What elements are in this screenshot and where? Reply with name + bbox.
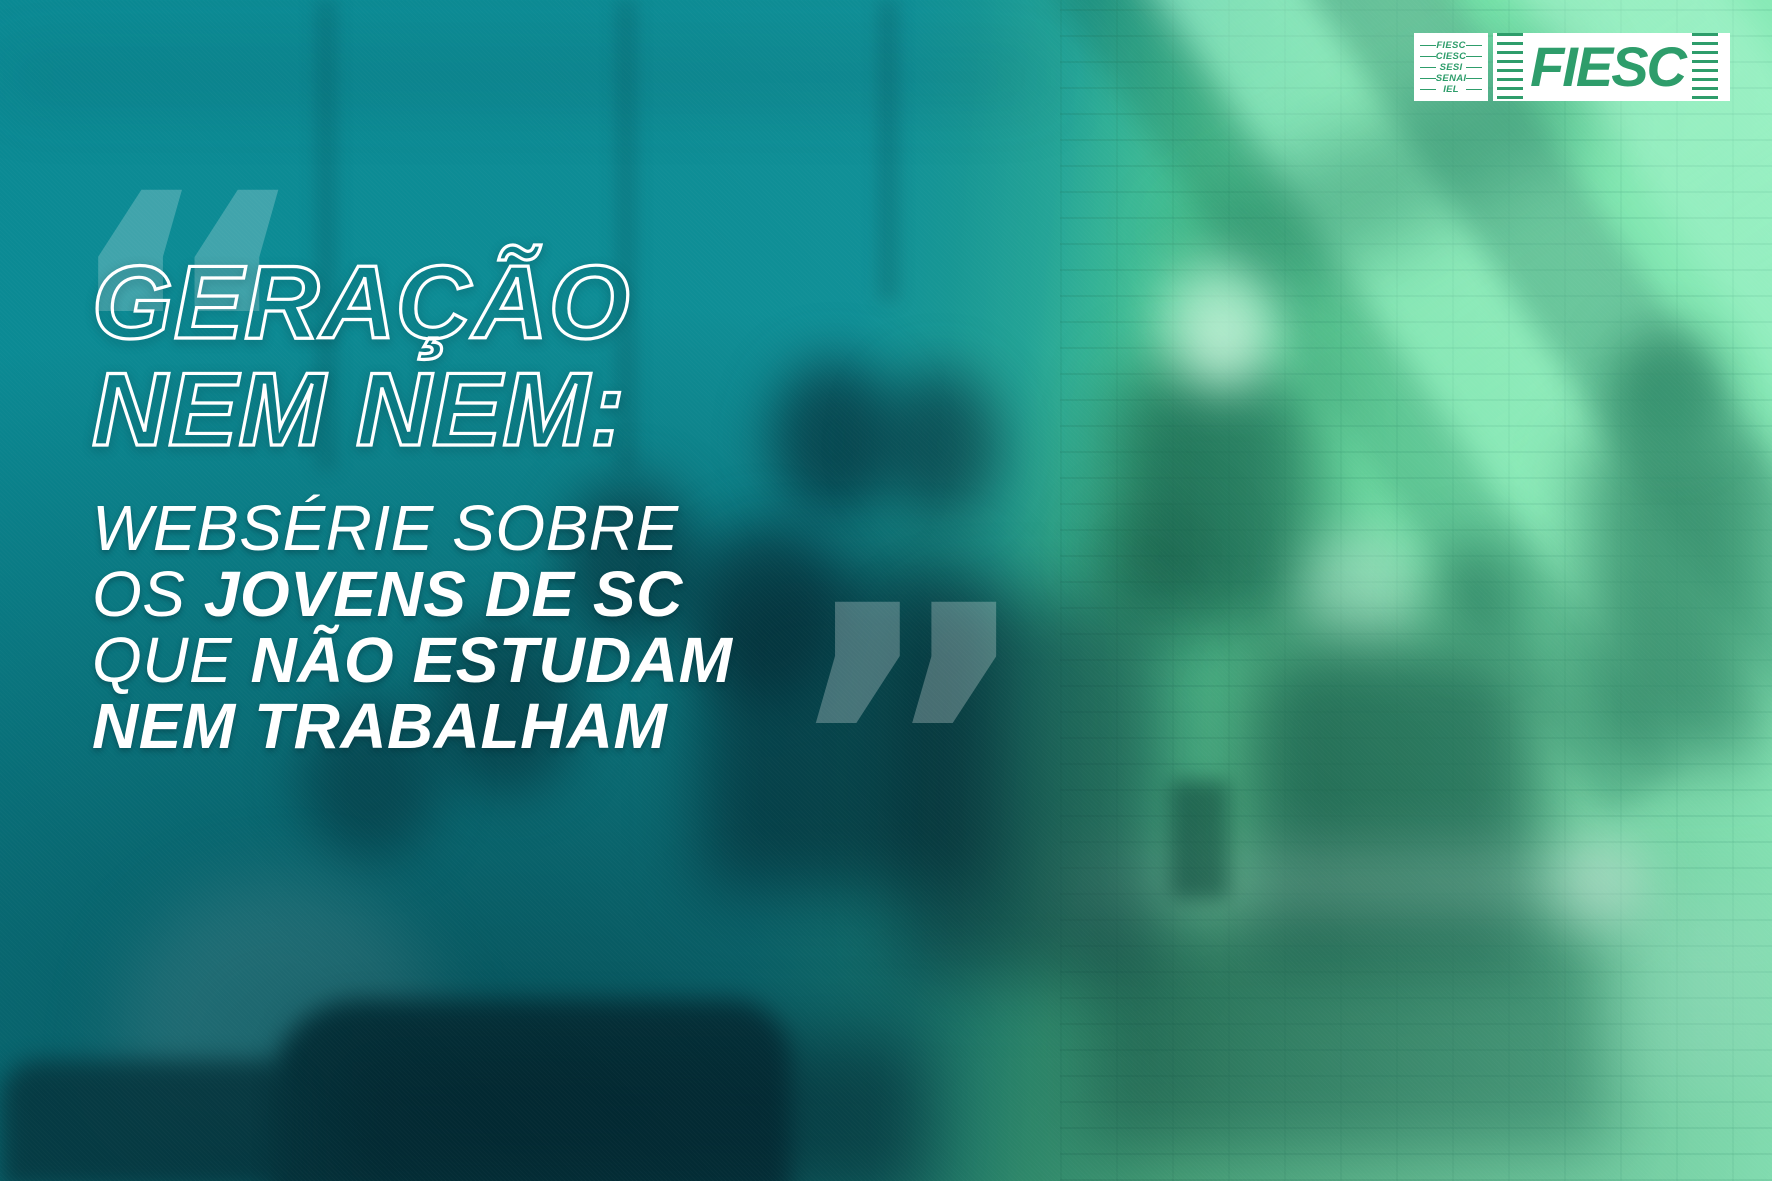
fiesc-logo-entities-mark: FIESC CIESC SESI SENAI IEL xyxy=(1414,33,1488,101)
headline-block: GERAÇÃO NEM NEM: WEBSÉRIE SOBRE OS JOVEN… xyxy=(92,252,972,760)
logo-entity-ciesc: CIESC xyxy=(1420,51,1482,62)
logo-entity-sesi: SESI xyxy=(1420,62,1482,73)
subtitle-line-1: WEBSÉRIE SOBRE xyxy=(92,496,972,562)
logo-bars-left-icon xyxy=(1497,33,1523,101)
fiesc-wordmark-text: FIESC xyxy=(1530,39,1685,95)
logo-entity-fiesc: FIESC xyxy=(1420,40,1482,51)
subtitle-line-4-bold: NEM TRABALHAM xyxy=(92,690,667,762)
headline-line-1: GERAÇÃO xyxy=(92,252,972,355)
poster-canvas: “ ” GERAÇÃO NEM NEM: WEBSÉRIE SOBRE OS J… xyxy=(0,0,1772,1181)
subtitle-line-4: NEM TRABALHAM xyxy=(92,694,972,760)
subtitle-line-2-light: OS xyxy=(92,558,185,630)
fiesc-logo-wordmark: FIESC xyxy=(1493,33,1730,101)
logo-bars-right-icon xyxy=(1692,33,1718,101)
fiesc-logo[interactable]: FIESC CIESC SESI SENAI IEL FIESC xyxy=(1414,33,1730,101)
headline-line-2: NEM NEM: xyxy=(92,359,972,462)
subtitle-line-3-light: QUE xyxy=(92,624,232,696)
logo-entity-iel: IEL xyxy=(1420,84,1482,95)
subtitle-line-2: OS JOVENS DE SC xyxy=(92,562,972,628)
subtitle-line-3-bold: NÃO ESTUDAM xyxy=(250,624,732,696)
subtitle-line-2-bold: JOVENS DE SC xyxy=(204,558,683,630)
logo-entity-senai: SENAI xyxy=(1420,73,1482,84)
subtitle-line-3: QUE NÃO ESTUDAM xyxy=(92,628,972,694)
